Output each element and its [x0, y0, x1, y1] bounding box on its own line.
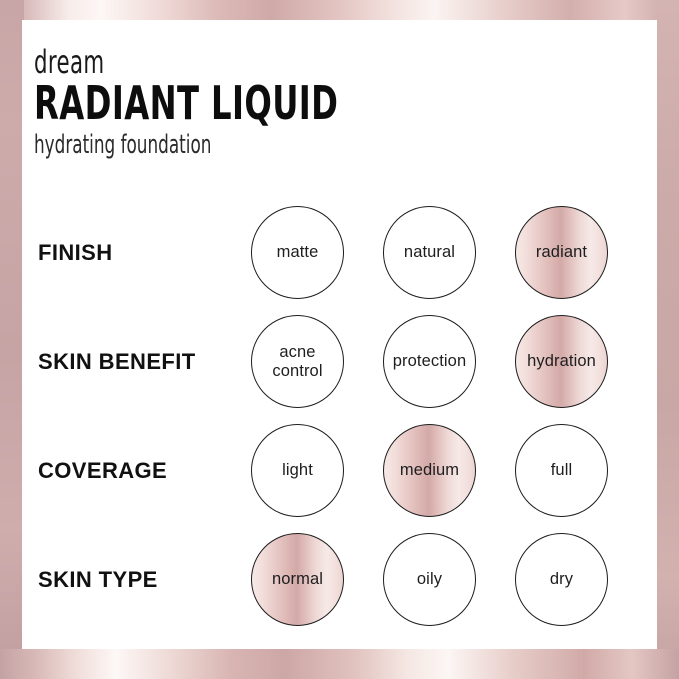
- attribute-option-label: natural: [404, 243, 455, 261]
- frame-right-edge: [655, 0, 679, 679]
- attribute-option[interactable]: dry: [515, 533, 608, 626]
- attribute-row: COVERAGElightmediumfull: [22, 416, 657, 525]
- content-card: dream RADIANT LIQUID hydrating foundatio…: [22, 20, 657, 649]
- attribute-row: SKIN TYPEnormaloilydry: [22, 525, 657, 634]
- attribute-option-selected[interactable]: radiant: [515, 206, 608, 299]
- attribute-option-group: acne controlprotectionhydration: [250, 307, 650, 416]
- attribute-option-label: protection: [393, 352, 466, 370]
- attribute-row-label: COVERAGE: [38, 458, 167, 484]
- attribute-row-label: FINISH: [38, 240, 113, 266]
- page-title: RADIANT LIQUID: [34, 80, 338, 127]
- brand-line: dream: [34, 46, 323, 78]
- product-subtitle: hydrating foundation: [34, 132, 315, 158]
- attribute-option-label: full: [551, 461, 573, 479]
- attribute-option[interactable]: natural: [383, 206, 476, 299]
- attribute-option-group: mattenaturalradiant: [250, 198, 650, 307]
- frame-left-edge: [0, 0, 24, 679]
- attribute-row-label: SKIN BENEFIT: [38, 349, 196, 375]
- attribute-row: SKIN BENEFITacne controlprotectionhydrat…: [22, 307, 657, 416]
- attribute-matrix: FINISHmattenaturalradiantSKIN BENEFITacn…: [22, 198, 657, 634]
- attribute-option-label: acne control: [272, 343, 322, 380]
- attribute-option-label: dry: [550, 570, 573, 588]
- attribute-option[interactable]: acne control: [251, 315, 344, 408]
- product-title-block: dream RADIANT LIQUID hydrating foundatio…: [34, 46, 424, 158]
- attribute-option-selected[interactable]: hydration: [515, 315, 608, 408]
- product-attribute-chart: dream RADIANT LIQUID hydrating foundatio…: [0, 0, 679, 679]
- attribute-option-label: oily: [417, 570, 442, 588]
- attribute-row: FINISHmattenaturalradiant: [22, 198, 657, 307]
- attribute-option[interactable]: oily: [383, 533, 476, 626]
- attribute-option[interactable]: matte: [251, 206, 344, 299]
- attribute-option-selected[interactable]: medium: [383, 424, 476, 517]
- attribute-option-label: matte: [277, 243, 319, 261]
- attribute-option-label: light: [282, 461, 313, 479]
- attribute-option-label: hydration: [527, 352, 596, 370]
- attribute-option-group: lightmediumfull: [250, 416, 650, 525]
- attribute-option[interactable]: full: [515, 424, 608, 517]
- attribute-option-label: normal: [272, 570, 323, 588]
- attribute-option-label: medium: [400, 461, 459, 479]
- attribute-option[interactable]: protection: [383, 315, 476, 408]
- attribute-option-group: normaloilydry: [250, 525, 650, 634]
- frame-bottom-edge: [0, 649, 679, 679]
- attribute-row-label: SKIN TYPE: [38, 567, 158, 593]
- attribute-option-selected[interactable]: normal: [251, 533, 344, 626]
- attribute-option-label: radiant: [536, 243, 587, 261]
- attribute-option[interactable]: light: [251, 424, 344, 517]
